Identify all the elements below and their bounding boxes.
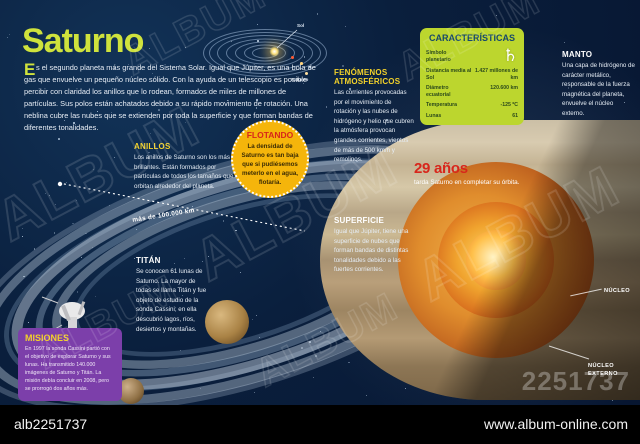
infographic-canvas: Sol Saturno Saturno E s el segundo plane… [0,0,640,405]
core-label-nucleo: NÚCLEO [604,288,630,296]
block-superficie: SUPERFICIE Igual que Júpiter, tiene una … [334,216,420,275]
floating-badge-heading: FLOTANDO [247,130,294,140]
site-url[interactable]: www.album-online.com [484,416,628,432]
anillos-heading: ANILLOS [134,142,238,151]
characteristics-row: Lunas 61 [426,113,518,120]
characteristics-value: 1.427 millones de km [472,68,518,81]
saturn-symbol-icon: ♄ [503,48,518,65]
characteristics-row: Diámetro ecuatorial 120.600 km [426,85,518,98]
missions-card: MISIONES En 1997 la sonda Cassini partió… [18,328,122,401]
characteristics-label: Distancia media al Sol [426,68,472,81]
fenomenos-body: Las corrientes provocadas por el movimie… [334,88,414,165]
superficie-heading: SUPERFICIE [334,216,420,225]
titan-heading: TITÁN [136,256,212,265]
page-title: Saturno [22,22,143,61]
block-anillos: ANILLOS Los anillos de Saturno son los m… [134,142,238,191]
manto-body: Una capa de hidrógeno de carácter metáli… [562,61,636,119]
image-id: alb2251737 [14,416,87,432]
watermark-code: 2251737 [522,366,630,397]
characteristics-heading: CARACTERÍSTICAS [426,33,518,43]
block-titan: TITÁN Se conocen 61 lunas de Saturno. La… [136,256,212,334]
floating-fact-badge: FLOTANDO La densidad de Saturno es tan b… [231,120,309,198]
block-manto: MANTO Una capa de hidrógeno de carácter … [562,50,636,119]
characteristics-label: Símbolo planetario [426,50,472,63]
orbit-fact-text: tarda Saturno en completar su órbita. [414,178,524,188]
characteristics-value: 120.600 km [490,85,518,92]
block-fenomenos-atmosfericos: FENÓMENOS ATMOSFÉRICOS Las corrientes pr… [334,68,414,165]
sun-label: Sol [297,23,304,28]
fenomenos-heading: FENÓMENOS ATMOSFÉRICOS [334,68,414,86]
characteristics-row-symbol: Símbolo planetario ♄ [426,48,518,65]
characteristics-label: Temperatura [426,102,457,109]
anillos-body: Los anillos de Saturno son los más brill… [134,153,238,191]
characteristics-label: Diámetro ecuatorial [426,85,472,98]
characteristics-value: 61 [512,113,518,120]
characteristics-label: Lunas [426,113,441,120]
characteristics-row: Temperatura -125 ºC [426,102,518,109]
manto-heading: MANTO [562,50,636,59]
titan-body: Se conocen 61 lunas de Saturno. La mayor… [136,267,212,334]
missions-body: En 1997 la sonda Cassini partió con el o… [25,346,115,394]
ring-measure-label: más de 100.000 km [132,207,195,224]
footer-bar: alb2251737 www.album-online.com [0,405,640,444]
characteristics-row: Distancia media al Sol 1.427 millones de… [426,68,518,81]
floating-badge-body: La densidad de Saturno es tan baja que s… [239,143,301,188]
orbit-fact: 29 años tarda Saturno en completar su ór… [414,160,524,188]
missions-heading: MISIONES [25,333,115,343]
superficie-body: Igual que Júpiter, tiene una superficie … [334,227,420,275]
orbit-fact-number: 29 años [414,160,524,177]
characteristics-value: -125 ºC [501,102,518,109]
characteristics-card: CARACTERÍSTICAS Símbolo planetario ♄ Dis… [420,28,524,125]
